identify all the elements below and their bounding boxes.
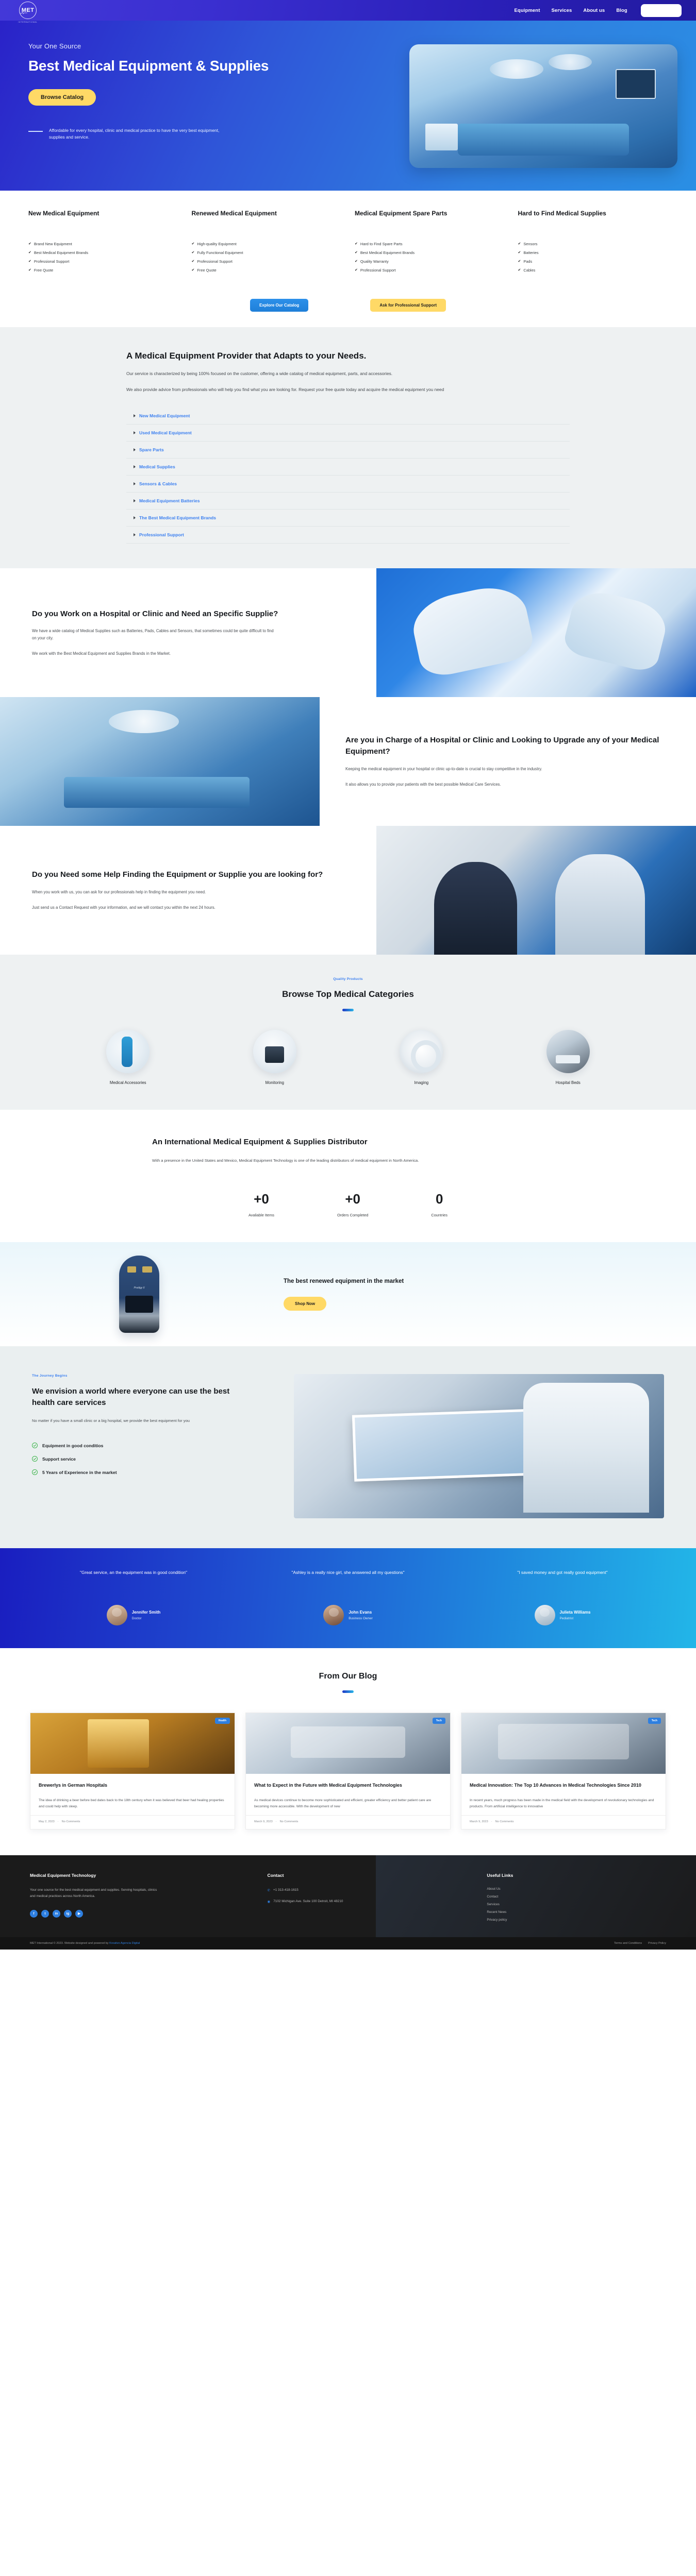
check-icon: ✔: [518, 251, 521, 255]
alt-section-title: Do you Work on a Hospital or Clinic and …: [32, 608, 351, 620]
facebook-icon[interactable]: f: [30, 1910, 38, 1918]
feature-column-hard-to-find: Hard to Find Medical Supplies ✔Sensors ✔…: [518, 209, 668, 277]
envision-check-label: Support service: [42, 1456, 76, 1462]
separator-dot: ·: [276, 1820, 277, 1823]
check-icon: ✔: [192, 260, 195, 264]
twitter-icon[interactable]: t: [41, 1910, 49, 1918]
check-icon: ✔: [355, 251, 358, 255]
feature-list: ✔Hard to Find Spare Parts ✔Best Medical …: [355, 242, 505, 273]
check-icon: ✔: [192, 242, 195, 246]
shop-product-image: Prodigy II: [0, 1256, 278, 1333]
footer-bottom-links: Terms and Conditions Privacy Policy: [614, 1942, 666, 1945]
category-card-imaging[interactable]: Imaging: [353, 1030, 490, 1085]
envision-check-label: 5 Years of Experience in the market: [42, 1470, 117, 1475]
distributor-title: An International Medical Equipment & Sup…: [152, 1137, 544, 1148]
logo-subtext: INTERNATIONAL: [18, 21, 38, 23]
blog-post-thumbnail: Health: [30, 1713, 235, 1774]
youtube-icon[interactable]: ▶: [75, 1910, 83, 1918]
categories-kicker: Quality Products: [0, 977, 696, 981]
accordion-item-label: New Medical Equipment: [139, 413, 190, 418]
logo-circle-icon: MET INTERNATIONAL: [19, 2, 37, 19]
feature-item-label: Professional Support: [34, 260, 70, 264]
feature-list-item: ✔Best Medical Equipment Brands: [355, 251, 505, 256]
footer-link-privacy-policy[interactable]: Privacy policy: [487, 1918, 666, 1922]
feature-list-item: ✔Pads: [518, 260, 668, 264]
accordion-item-medical-supplies[interactable]: Medical Supplies: [126, 459, 570, 476]
accordion-item-best-brands[interactable]: The Best Medical Equipment Brands: [126, 510, 570, 527]
feature-item-label: High-quality Equipment: [197, 242, 236, 247]
blog-post-badge: Tech: [648, 1718, 661, 1724]
check-icon: ✔: [355, 242, 358, 246]
patient-monitor-product: Prodigy II: [119, 1256, 159, 1333]
blog-post-card[interactable]: Tech What to Expect in the Future with M…: [245, 1713, 451, 1829]
accordion-item-used-medical-equipment[interactable]: Used Medical Equipment: [126, 425, 570, 442]
accordion-item-label: Medical Equipment Batteries: [139, 498, 200, 503]
category-label: Medical Accessories: [110, 1080, 146, 1085]
caret-right-icon: [134, 414, 136, 417]
footer-terms-link[interactable]: Terms and Conditions: [614, 1942, 642, 1945]
feature-item-label: Brand New Equipment: [34, 242, 72, 247]
alt-section-text: Do you Need some Help Finding the Equipm…: [0, 826, 376, 955]
operating-table-shape: [458, 124, 629, 156]
monitor-led-right: [142, 1266, 152, 1273]
caret-right-icon: [134, 431, 136, 434]
accordion-item-label: Used Medical Equipment: [139, 430, 192, 435]
blog-post-card[interactable]: Health Brewerlys in German Hospitals The…: [30, 1713, 235, 1829]
alt-section-title: Are you in Charge of a Hospital or Clini…: [345, 735, 664, 757]
doctors-consulting-image: [376, 826, 696, 955]
envision-title: We envision a world where everyone can u…: [32, 1386, 248, 1409]
feature-column-spare-parts: Medical Equipment Spare Parts ✔Hard to F…: [355, 209, 505, 277]
category-card-medical-accessories[interactable]: Medical Accessories: [59, 1030, 197, 1085]
feature-list: ✔Brand New Equipment ✔Best Medical Equip…: [28, 242, 178, 273]
footer-contact-title: Contact: [268, 1873, 474, 1878]
operating-room-image: [0, 697, 320, 826]
alt-section-text: Do you Work on a Hospital or Clinic and …: [0, 568, 376, 697]
category-image-monitoring: [253, 1030, 296, 1073]
divider-dash: [28, 131, 43, 132]
accordion-item-label: Sensors & Cables: [139, 481, 177, 486]
footer-links-list: About Us Contact Services Recent News Pr…: [487, 1887, 666, 1922]
avatar: [535, 1605, 555, 1625]
feature-list-item: ✔Sensors: [518, 242, 668, 247]
blog-post-title[interactable]: What to Expect in the Future with Medica…: [254, 1782, 442, 1789]
alt-section-paragraph-2: We work with the Best Medical Equipment …: [32, 650, 274, 657]
footer-copyright: MET International © 2023. Website design…: [30, 1942, 140, 1945]
testimonial-role: Pediatrist: [560, 1617, 591, 1620]
feature-item-label: Pads: [523, 260, 532, 264]
footer-links-title: Useful Links: [487, 1873, 666, 1878]
separator-dot: ·: [58, 1820, 59, 1823]
footer-bottom-bar: MET International © 2023. Website design…: [0, 1937, 696, 1950]
caret-right-icon: [134, 533, 136, 536]
blog-post-date: March 9, 2023: [254, 1820, 273, 1823]
feature-list-item: ✔Free Quote: [192, 268, 342, 273]
feature-item-label: Sensors: [523, 242, 537, 247]
counter-orders-completed: +0 Orders Completed: [337, 1192, 368, 1217]
check-icon: ✔: [518, 260, 521, 264]
feature-list-item: ✔Free Quote: [28, 268, 178, 273]
feature-item-label: Quality Warranty: [360, 260, 389, 264]
categories-grid: Medical Accessories Monitoring Imaging H…: [0, 1011, 696, 1085]
feature-item-label: Cables: [523, 268, 535, 273]
alt-section-paragraph-1: We have a wide catalog of Medical Suppli…: [32, 628, 274, 641]
blog-post-excerpt: In recent years, much progress has been …: [470, 1798, 657, 1810]
envision-check-item: Support service: [32, 1456, 289, 1462]
counter-label: Countries: [431, 1213, 448, 1217]
blog-post-date: March 9, 2023: [470, 1820, 488, 1823]
blog-post-thumbnail: Tech: [461, 1713, 666, 1774]
shop-now-button[interactable]: Shop Now: [284, 1297, 326, 1311]
counter-countries: 0 Countries: [431, 1192, 448, 1217]
hero-title: Best Medical Equipment & Supplies: [28, 57, 317, 75]
hero-kicker: Your One Source: [28, 42, 330, 50]
blog-post-badge: Tech: [433, 1718, 445, 1724]
envision-paragraph: No matter if you have a small clinic or …: [32, 1418, 238, 1425]
footer-link-about-us[interactable]: About Us: [487, 1887, 666, 1891]
browse-catalog-button[interactable]: Browse Catalog: [28, 89, 96, 106]
counter-label: Orders Completed: [337, 1213, 368, 1217]
testimonial-name: Julieta Williams: [560, 1610, 591, 1615]
footer-link-contact[interactable]: Contact: [487, 1895, 666, 1899]
feature-list-item: ✔Quality Warranty: [355, 260, 505, 264]
feature-list: ✔Sensors ✔Batteries ✔Pads ✔Cables: [518, 242, 668, 273]
feature-title: Hard to Find Medical Supplies: [518, 209, 668, 227]
alt-section-specific-supplies: Do you Work on a Hospital or Clinic and …: [0, 568, 696, 697]
testimonial-person: John Evans Business Owner: [244, 1605, 452, 1625]
accordion-item-label: Spare Parts: [139, 447, 164, 452]
provider-title: A Medical Equipment Provider that Adapts…: [126, 350, 508, 362]
alt-section-paragraph-1: When you work with us, you can ask for o…: [32, 889, 274, 896]
distributor-section: An International Medical Equipment & Sup…: [0, 1110, 696, 1242]
footer-link-services[interactable]: Services: [487, 1903, 666, 1906]
site-footer: Medical Equipment Technology Your one so…: [0, 1855, 696, 1937]
testimonials-grid: "Great service, an the equipment was in …: [0, 1569, 696, 1625]
check-icon: ✔: [192, 251, 195, 255]
category-image-imaging: [400, 1030, 443, 1073]
blog-post-date: May 2, 2023: [39, 1820, 55, 1823]
envision-image: [294, 1374, 664, 1518]
testimonial-role: Doctor: [132, 1617, 161, 1620]
check-icon: ✔: [28, 260, 31, 264]
blog-post-comments: No Comments: [280, 1820, 299, 1823]
feature-list-item: ✔Best Medical Equipment Brands: [28, 251, 178, 256]
distributor-paragraph: With a presence in the United States and…: [152, 1157, 534, 1164]
testimonial-quote: "Great service, an the equipment was in …: [30, 1569, 237, 1589]
hero-note: Affordable for every hospital, clinic an…: [28, 127, 235, 141]
shop-banner-title: The best renewed equipment in the market: [284, 1278, 696, 1284]
caret-right-icon: [134, 448, 136, 451]
provider-section: A Medical Equipment Provider that Adapts…: [0, 327, 696, 568]
feature-item-label: Fully Functional Equipment: [197, 251, 243, 256]
feature-item-label: Batteries: [523, 251, 538, 256]
contact-us-button[interactable]: Contact Us: [641, 4, 682, 17]
hero-content: Your One Source Best Medical Equipment &…: [0, 21, 330, 141]
accordion-item-sensors-cables[interactable]: Sensors & Cables: [126, 476, 570, 493]
envision-check-item: Equipment in good conditios: [32, 1443, 289, 1448]
avatar: [107, 1605, 127, 1625]
hero-operating-room-image: [409, 44, 677, 168]
counter-label: Avaliable Items: [248, 1213, 274, 1217]
testimonials-section: "Great service, an the equipment was in …: [0, 1548, 696, 1648]
testimonial-name: Jennifer Smith: [132, 1610, 161, 1615]
feature-list: ✔High-quality Equipment ✔Fully Functiona…: [192, 242, 342, 273]
shop-banner-content: The best renewed equipment in the market…: [278, 1278, 696, 1311]
envision-check-item: 5 Years of Experience in the market: [32, 1469, 289, 1475]
blog-post-comments: No Comments: [62, 1820, 80, 1823]
instagram-icon[interactable]: ig: [64, 1910, 72, 1918]
blog-post-badge: Health: [215, 1718, 230, 1724]
accordion-item-batteries[interactable]: Medical Equipment Batteries: [126, 493, 570, 510]
alt-section-text: Are you in Charge of a Hospital or Clini…: [320, 697, 696, 826]
envision-kicker: The Journey Begins: [32, 1374, 289, 1378]
blog-post-footer: May 2, 2023 · No Comments: [30, 1815, 235, 1829]
ask-support-button[interactable]: Ask for Professional Support: [370, 299, 446, 312]
phone-icon: ✆: [268, 1888, 270, 1894]
blog-post-comments: No Comments: [495, 1820, 514, 1823]
caret-right-icon: [134, 499, 136, 502]
monitor-screen: [125, 1296, 153, 1313]
testimonial-quote: "I saved money and got really good equip…: [459, 1569, 666, 1589]
explore-catalog-button[interactable]: Explore Our Catalog: [250, 299, 308, 312]
page-root: MET INTERNATIONAL Equipment Services Abo…: [0, 0, 696, 1950]
feature-list-item: ✔Professional Support: [192, 260, 342, 264]
feature-item-label: Best Medical Equipment Brands: [360, 251, 415, 256]
features-cta-row: Explore Our Catalog Ask for Professional…: [28, 299, 668, 312]
surgical-light-secondary-icon: [549, 54, 591, 70]
powered-by-link[interactable]: Kreativo Agencia Digital: [109, 1942, 140, 1945]
check-circle-icon: [32, 1469, 38, 1475]
caret-right-icon: [134, 482, 136, 485]
footer-link-recent-news[interactable]: Recent News: [487, 1910, 666, 1914]
check-icon: ✔: [192, 268, 195, 273]
nav-item-about[interactable]: About us: [583, 8, 605, 13]
separator-dot: ·: [491, 1820, 492, 1823]
feature-item-label: Free Quote: [34, 268, 53, 273]
provider-paragraph-1: Our service is characterized by being 10…: [126, 370, 534, 377]
provider-paragraph-2: We also provide advice from professional…: [126, 386, 534, 393]
testimonial-role: Business Owner: [349, 1617, 373, 1620]
testimonial-card: "Great service, an the equipment was in …: [30, 1569, 237, 1625]
feature-title: Medical Equipment Spare Parts: [355, 209, 505, 227]
check-circle-icon: [32, 1443, 38, 1448]
feature-list-item: ✔Professional Support: [28, 260, 178, 264]
feature-item-label: Professional Support: [197, 260, 233, 264]
check-icon: ✔: [355, 260, 358, 264]
product-brand-label: Prodigy II: [119, 1286, 159, 1290]
accordion-item-label: Medical Supplies: [139, 464, 175, 469]
linkedin-icon[interactable]: in: [53, 1910, 60, 1918]
envision-content: The Journey Begins We envision a world w…: [0, 1374, 289, 1518]
alt-section-paragraph-2: Just send us a Contact Request with your…: [32, 904, 274, 911]
blog-section: From Our Blog Health Brewerlys in German…: [0, 1648, 696, 1855]
check-icon: ✔: [518, 268, 521, 273]
alt-section-need-help: Do you Need some Help Finding the Equipm…: [0, 826, 696, 955]
main-navigation: Equipment Services About us Blog Contact…: [514, 4, 682, 17]
feature-list-item: ✔Batteries: [518, 251, 668, 256]
site-logo[interactable]: MET INTERNATIONAL: [15, 0, 40, 21]
shop-banner-section: Prodigy II The best renewed equipment in…: [0, 1242, 696, 1346]
blog-post-footer: March 9, 2023 · No Comments: [461, 1815, 666, 1829]
nav-item-services[interactable]: Services: [551, 8, 572, 13]
category-card-hospital-beds[interactable]: Hospital Beds: [500, 1030, 637, 1085]
footer-address-line[interactable]: ◉ 7102 Michigan Ave. Suite 100 Detroit, …: [268, 1899, 474, 1905]
feature-list-item: ✔High-quality Equipment: [192, 242, 342, 247]
footer-address-text: 7102 Michigan Ave. Suite 100 Detroit, MI…: [273, 1899, 343, 1905]
footer-links-column: Useful Links About Us Contact Services R…: [487, 1873, 666, 1926]
counter-value: +0: [337, 1192, 368, 1206]
blog-post-footer: March 9, 2023 · No Comments: [246, 1815, 450, 1829]
feature-item-label: Free Quote: [197, 268, 216, 273]
check-icon: ✔: [28, 268, 31, 273]
blog-post-title[interactable]: Brewerlys in German Hospitals: [39, 1782, 226, 1789]
feature-item-label: Hard to Find Spare Parts: [360, 242, 403, 247]
testimonial-name: John Evans: [349, 1610, 373, 1615]
check-icon: ✔: [518, 242, 521, 246]
footer-brand-column: Medical Equipment Technology Your one so…: [30, 1873, 254, 1926]
accordion-item-spare-parts[interactable]: Spare Parts: [126, 442, 570, 459]
feature-title: New Medical Equipment: [28, 209, 178, 227]
blog-post-excerpt: The idea of drinking a beer before bed d…: [39, 1798, 226, 1810]
feature-list-item: ✔Professional Support: [355, 268, 505, 273]
feature-list-item: ✔Brand New Equipment: [28, 242, 178, 247]
category-label: Hospital Beds: [556, 1080, 581, 1085]
caret-right-icon: [134, 465, 136, 468]
doctor-figure-shape: [523, 1383, 649, 1513]
surgical-light-icon: [490, 59, 543, 79]
feature-list-item: ✔Fully Functional Equipment: [192, 251, 342, 256]
footer-social-links: f t in ig ▶: [30, 1910, 254, 1918]
footer-privacy-link[interactable]: Privacy Policy: [648, 1942, 666, 1945]
footer-phone-text: +1 313-418-1615: [273, 1887, 299, 1893]
ecg-line-icon: [20, 11, 27, 14]
feature-item-label: Professional Support: [360, 268, 396, 273]
check-icon: ✔: [355, 268, 358, 273]
check-icon: ✔: [28, 242, 31, 246]
alt-section-paragraph-2: It also allows you to provide your patie…: [345, 781, 588, 788]
testimonial-quote: "Ashley is a really nice girl, she answe…: [244, 1569, 452, 1589]
testimonial-card: "Ashley is a really nice girl, she answe…: [244, 1569, 452, 1625]
footer-brand-text: Your one source for the best medical equ…: [30, 1887, 159, 1900]
categories-title: Browse Top Medical Categories: [0, 989, 696, 999]
copyright-text: MET International © 2023. Website design…: [30, 1942, 109, 1945]
blog-title: From Our Blog: [0, 1672, 696, 1681]
feature-list-item: ✔Cables: [518, 268, 668, 273]
alt-section-title: Do you Need some Help Finding the Equipm…: [32, 869, 351, 880]
category-image-hospital-beds: [546, 1030, 590, 1073]
blog-grid: Health Brewerlys in German Hospitals The…: [0, 1693, 696, 1829]
monitor-led-left: [127, 1266, 136, 1273]
envision-check-label: Equipment in good conditios: [42, 1443, 103, 1448]
feature-column-new-equipment: New Medical Equipment ✔Brand New Equipme…: [28, 209, 178, 277]
medical-gloves-image: [376, 568, 696, 697]
location-pin-icon: ◉: [268, 1899, 271, 1905]
check-circle-icon: [32, 1456, 38, 1462]
feature-list-item: ✔Hard to Find Spare Parts: [355, 242, 505, 247]
feature-item-label: Best Medical Equipment Brands: [34, 251, 88, 256]
alt-section-paragraph-1: Keeping the medical equipment in your ho…: [345, 766, 588, 773]
accordion-item-new-medical-equipment[interactable]: New Medical Equipment: [126, 408, 570, 425]
footer-phone-line[interactable]: ✆ +1 313-418-1615: [268, 1887, 474, 1894]
caret-right-icon: [134, 516, 136, 519]
hero-section: Your One Source Best Medical Equipment &…: [0, 21, 696, 191]
nav-item-equipment[interactable]: Equipment: [514, 8, 540, 13]
category-label: Imaging: [414, 1080, 428, 1085]
blog-post-card[interactable]: Tech Medical Innovation: The Top 10 Adva…: [461, 1713, 666, 1829]
counter-available-items: +0 Avaliable Items: [248, 1192, 274, 1217]
counter-value: 0: [431, 1192, 448, 1206]
footer-contact-column: Contact ✆ +1 313-418-1615 ◉ 7102 Michiga…: [268, 1873, 474, 1926]
envision-section: The Journey Begins We envision a world w…: [0, 1346, 696, 1548]
footer-brand-title: Medical Equipment Technology: [30, 1873, 254, 1878]
site-header: MET INTERNATIONAL Equipment Services Abo…: [0, 0, 696, 21]
categories-section: Quality Products Browse Top Medical Cate…: [0, 955, 696, 1110]
blog-post-excerpt: As medical devices continue to become mo…: [254, 1798, 442, 1810]
accordion-item-label: The Best Medical Equipment Brands: [139, 515, 216, 520]
testimonial-person: Julieta Williams Pediatrist: [459, 1605, 666, 1625]
counters-row: +0 Avaliable Items +0 Orders Completed 0…: [0, 1192, 696, 1222]
check-icon: ✔: [28, 251, 31, 255]
equipment-cart-shape: [425, 124, 457, 151]
nav-item-blog[interactable]: Blog: [616, 8, 627, 13]
category-image-medical-accessories: [106, 1030, 150, 1073]
provider-accordion: New Medical Equipment Used Medical Equip…: [126, 408, 570, 544]
accordion-item-label: Professional Support: [139, 532, 184, 537]
features-section: New Medical Equipment ✔Brand New Equipme…: [0, 191, 696, 327]
vital-monitor-shape: [616, 69, 656, 99]
blog-post-thumbnail: Tech: [246, 1713, 450, 1774]
category-label: Monitoring: [266, 1080, 284, 1085]
envision-checklist: Equipment in good conditios Support serv…: [32, 1443, 289, 1475]
alt-section-upgrade-equipment: Are you in Charge of a Hospital or Clini…: [0, 697, 696, 826]
testimonial-person: Jennifer Smith Doctor: [30, 1605, 237, 1625]
counter-value: +0: [248, 1192, 274, 1206]
blog-post-title[interactable]: Medical Innovation: The Top 10 Advances …: [470, 1782, 657, 1789]
feature-column-renewed-equipment: Renewed Medical Equipment ✔High-quality …: [192, 209, 342, 277]
avatar: [323, 1605, 344, 1625]
hero-note-text: Affordable for every hospital, clinic an…: [49, 127, 235, 141]
testimonial-card: "I saved money and got really good equip…: [459, 1569, 666, 1625]
feature-title: Renewed Medical Equipment: [192, 209, 342, 227]
category-card-monitoring[interactable]: Monitoring: [206, 1030, 344, 1085]
accordion-item-professional-support[interactable]: Professional Support: [126, 527, 570, 544]
